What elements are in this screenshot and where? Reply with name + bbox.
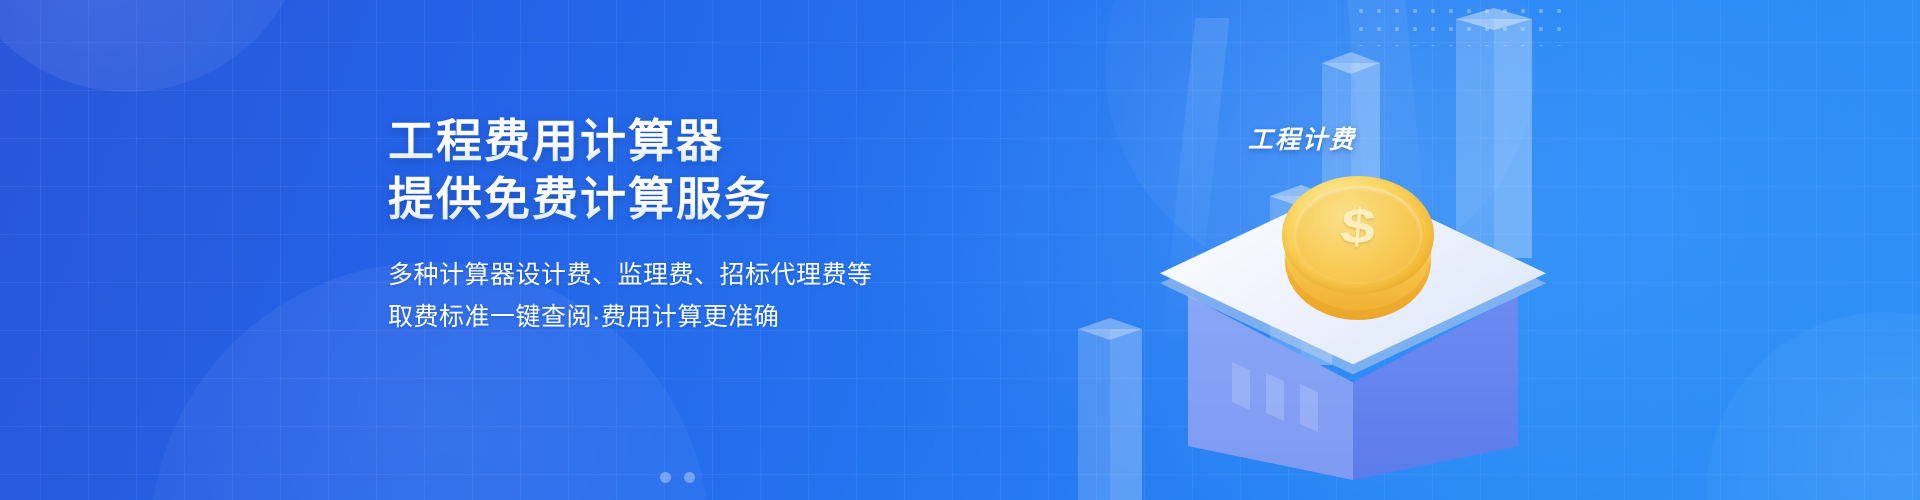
page-title-line1: 工程费用计算器	[388, 112, 1008, 170]
banner-subtitle-line1: 多种计算器设计费、监理费、招标代理费等	[388, 254, 1008, 296]
chart-bar-right	[1456, 8, 1532, 258]
carousel-dot-1[interactable]	[660, 472, 671, 483]
carousel-dots[interactable]	[660, 472, 695, 483]
page-title-line2: 提供免费计算服务	[388, 170, 1008, 228]
chart-bar-far-left	[1078, 318, 1142, 500]
carousel-dot-2[interactable]	[684, 472, 695, 483]
banner-copy: 工程费用计算器 提供免费计算服务 多种计算器设计费、监理费、招标代理费等 取费标…	[388, 112, 1008, 338]
hero-illustration: $ 工程计费	[1060, 0, 1620, 500]
banner-subtitle-line2: 取费标准一键查阅·费用计算更准确	[388, 296, 1008, 338]
hero-banner: 工程费用计算器 提供免费计算服务 多种计算器设计费、监理费、招标代理费等 取费标…	[0, 0, 1920, 500]
dollar-sign-glyph: $	[1280, 202, 1436, 252]
gold-coin-icon: $	[1282, 176, 1434, 326]
illustration-badge-label: 工程计费	[1248, 120, 1356, 156]
